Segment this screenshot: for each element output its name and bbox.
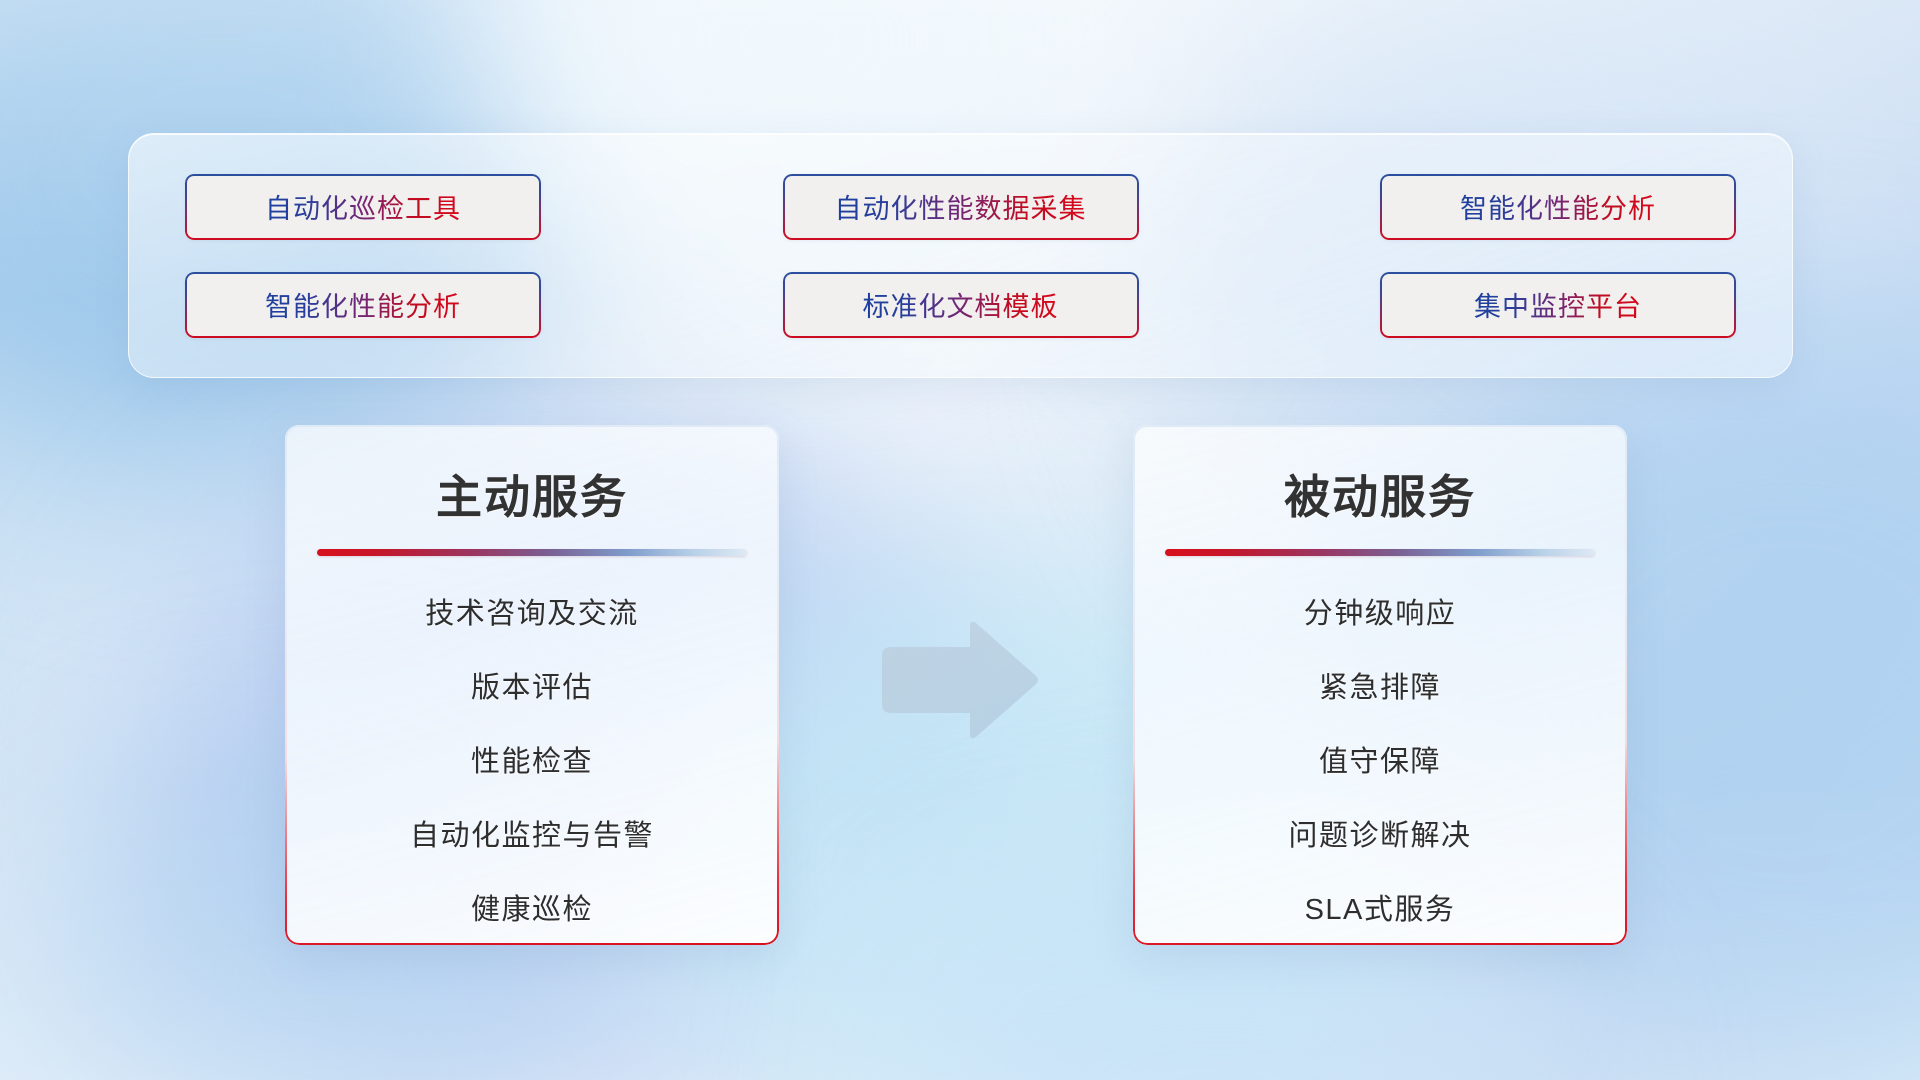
capability-pill-label: 集中监控平台	[1474, 285, 1642, 324]
capability-pill[interactable]: 集中监控平台	[1380, 272, 1736, 338]
capability-pill-label: 智能化性能分析	[265, 285, 461, 324]
capability-pill-label: 标准化文档模板	[863, 285, 1059, 324]
service-card-divider	[1165, 549, 1595, 556]
service-card-passive: 被动服务 分钟级响应 紧急排障 值守保障 问题诊断解决 SLA式服务	[1133, 425, 1627, 945]
service-list-item: SLA式服务	[1133, 896, 1627, 925]
service-list-item: 紧急排障	[1133, 674, 1627, 703]
service-list-item: 性能检查	[285, 748, 779, 777]
capability-pill[interactable]: 智能化性能分析	[185, 272, 541, 338]
flow-arrow-right-icon	[872, 619, 1040, 741]
capability-pill[interactable]: 智能化性能分析	[1380, 174, 1736, 240]
capability-pill[interactable]: 标准化文档模板	[783, 272, 1139, 338]
service-card-divider	[317, 549, 747, 556]
capability-row: 自动化巡检工具 自动化性能数据采集 智能化性能分析	[185, 174, 1736, 240]
service-item-list: 技术咨询及交流 版本评估 性能检查 自动化监控与告警 健康巡检	[285, 600, 779, 925]
service-list-item: 健康巡检	[285, 896, 779, 925]
service-card-active: 主动服务 技术咨询及交流 版本评估 性能检查 自动化监控与告警 健康巡检	[285, 425, 779, 945]
service-list-item: 分钟级响应	[1133, 600, 1627, 629]
capability-row: 智能化性能分析 标准化文档模板 集中监控平台	[185, 272, 1736, 338]
capability-panel: 自动化巡检工具 自动化性能数据采集 智能化性能分析 智能化性能分析 标准化文档模…	[128, 133, 1793, 378]
service-list-item: 版本评估	[285, 674, 779, 703]
service-item-list: 分钟级响应 紧急排障 值守保障 问题诊断解决 SLA式服务	[1133, 600, 1627, 925]
service-list-item: 问题诊断解决	[1133, 822, 1627, 851]
capability-pill[interactable]: 自动化巡检工具	[185, 174, 541, 240]
service-card-title: 被动服务	[1133, 461, 1627, 527]
service-card-title: 主动服务	[285, 461, 779, 527]
service-list-item: 值守保障	[1133, 748, 1627, 777]
capability-pill[interactable]: 自动化性能数据采集	[783, 174, 1139, 240]
service-list-item: 技术咨询及交流	[285, 600, 779, 629]
service-list-item: 自动化监控与告警	[285, 822, 779, 851]
capability-pill-label: 智能化性能分析	[1460, 187, 1656, 226]
capability-pill-label: 自动化巡检工具	[265, 187, 461, 226]
capability-pill-label: 自动化性能数据采集	[835, 187, 1087, 226]
